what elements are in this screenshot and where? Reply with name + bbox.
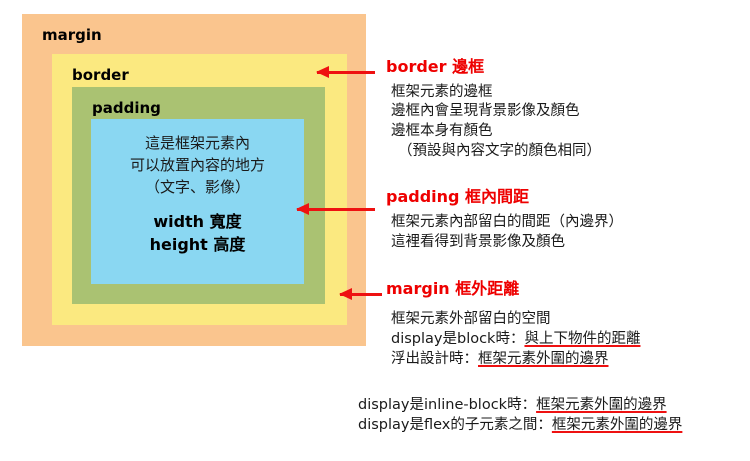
annotation-body-padding: 框架元素內部留白的間距（內邊界） 這裡看得到背景影像及顏色 <box>386 213 746 252</box>
footer-line: display是inline-block時：框架元素外圍的邊界 <box>358 396 750 416</box>
box-model-diagram: margin border padding 這是框架元素內 可以放置內容的地方 … <box>22 14 366 346</box>
content-width-label: width 寬度 <box>150 210 246 233</box>
annotation-line: 邊框本身有顏色 <box>386 122 746 142</box>
annotation-block-padding: padding 框內間距 框架元素內部留白的間距（內邊界） 這裡看得到背景影像及… <box>386 188 746 252</box>
annotation-line: 這裡看得到背景影像及顏色 <box>386 233 746 253</box>
content-text-line-2: 可以放置內容的地方 <box>130 155 265 177</box>
annotation-line: 浮出設計時：框架元素外圍的邊界 <box>386 350 746 370</box>
annotation-line-underlined: 與上下物件的距離 <box>524 331 640 347</box>
padding-label: padding <box>92 99 161 117</box>
annotation-column: border 邊框 框架元素的邊框 邊框內會呈現背景影像及顏色 邊框本身有顏色 … <box>386 58 746 369</box>
annotation-line-prefix: display是block時： <box>391 331 524 347</box>
content-dimensions: width 寬度 height 高度 <box>150 210 246 256</box>
annotation-line: 框架元素內部留白的間距（內邊界） <box>386 213 746 233</box>
annotation-line: （預設與內容文字的顏色相同） <box>386 142 746 162</box>
content-height-label: height 高度 <box>150 233 246 256</box>
footer-line-prefix: display是flex的子元素之間： <box>358 417 552 433</box>
annotation-line-prefix: 浮出設計時： <box>391 351 478 367</box>
annotation-title-margin: margin 框外距離 <box>386 280 746 298</box>
content-text-line-3: （文字、影像） <box>145 177 250 199</box>
margin-label: margin <box>42 26 102 44</box>
content-layer: 這是框架元素內 可以放置內容的地方 （文字、影像） width 寬度 heigh… <box>91 119 304 284</box>
border-label: border <box>72 66 129 84</box>
content-text-line-1: 這是框架元素內 <box>145 133 250 155</box>
footer-line-prefix: display是inline-block時： <box>358 397 536 413</box>
annotation-line: display是block時：與上下物件的距離 <box>386 330 746 350</box>
annotation-block-margin: margin 框外距離 框架元素外部留白的空間 display是block時：與… <box>386 280 746 370</box>
arrow-to-padding-icon <box>297 208 375 211</box>
annotation-body-margin: 框架元素外部留白的空間 display是block時：與上下物件的距離 浮出設計… <box>386 310 746 369</box>
footer-line: display是flex的子元素之間：框架元素外圍的邊界 <box>358 416 750 436</box>
arrow-to-border-icon <box>317 71 375 74</box>
footer-line-underlined: 框架元素外圍的邊界 <box>536 397 667 413</box>
annotation-title-padding: padding 框內間距 <box>386 188 746 206</box>
annotation-line: 框架元素的邊框 <box>386 83 746 103</box>
annotation-line-underlined: 框架元素外圍的邊界 <box>478 351 609 367</box>
annotation-block-border: border 邊框 框架元素的邊框 邊框內會呈現背景影像及顏色 邊框本身有顏色 … <box>386 58 746 161</box>
footer-line-underlined: 框架元素外圍的邊界 <box>552 417 683 433</box>
annotation-line: 框架元素外部留白的空間 <box>386 310 746 330</box>
annotation-title-border: border 邊框 <box>386 58 746 76</box>
annotation-body-border: 框架元素的邊框 邊框內會呈現背景影像及顏色 邊框本身有顏色 （預設與內容文字的顏… <box>386 83 746 162</box>
annotation-line: 邊框內會呈現背景影像及顏色 <box>386 102 746 122</box>
arrow-to-margin-icon <box>340 293 382 296</box>
footer-notes: display是inline-block時：框架元素外圍的邊界 display是… <box>358 396 750 435</box>
